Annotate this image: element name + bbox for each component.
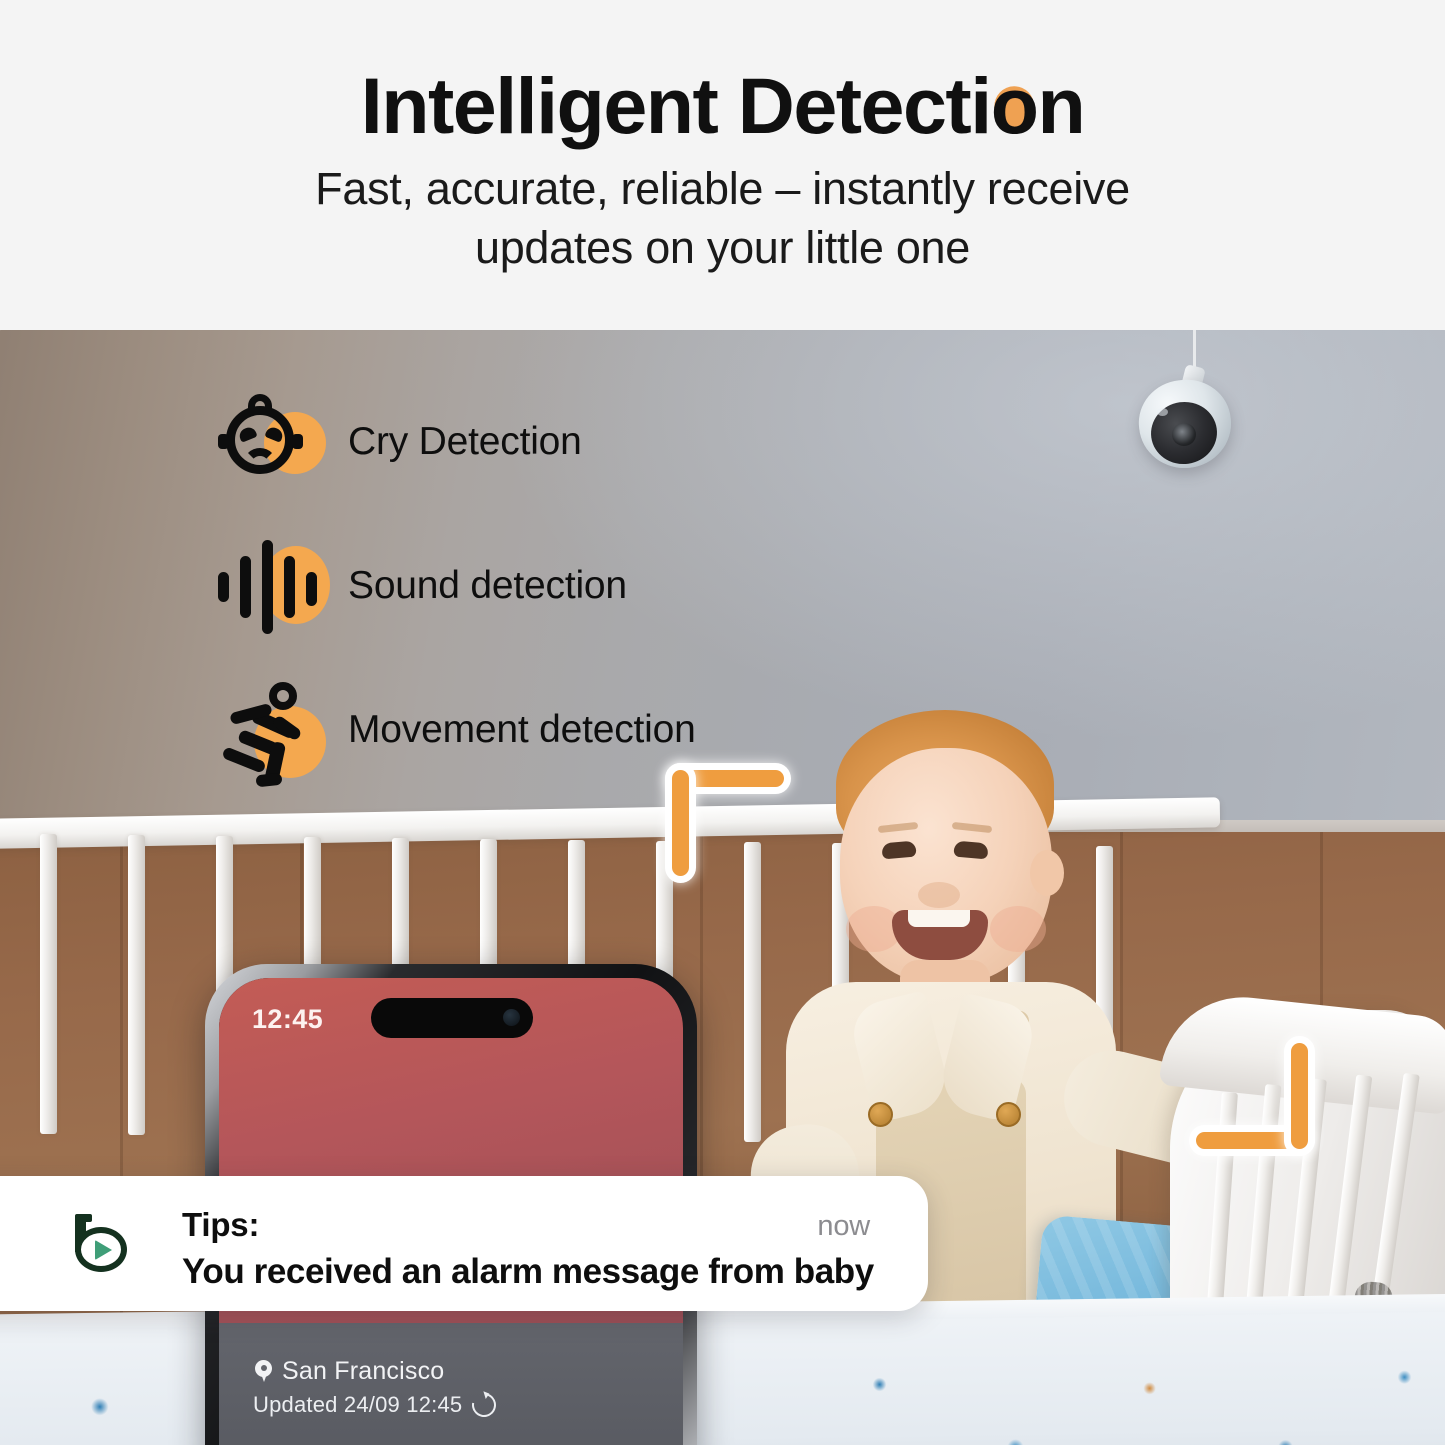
- bracket-arm-vertical: [672, 770, 689, 876]
- baby-teeth: [908, 910, 970, 927]
- last-updated-label: Updated 24/09 12:45: [253, 1392, 462, 1418]
- feature-item-movement-detection: Movement detection: [212, 672, 696, 788]
- baby-hair-curl: [248, 394, 272, 410]
- feature-label: Cry Detection: [348, 420, 582, 464]
- play-triangle-icon: [95, 1240, 112, 1260]
- waveform-bar: [306, 572, 317, 606]
- running-person-icon: [212, 674, 324, 786]
- sound-waveform-icon: [212, 530, 324, 642]
- waveform-bar: [262, 540, 273, 634]
- detection-bracket-bottom-right-icon: [1196, 1043, 1308, 1149]
- feature-label: Movement detection: [348, 708, 696, 752]
- baby-eye-right: [953, 841, 988, 860]
- baby-cheek-right: [990, 906, 1046, 952]
- device-location-label: San Francisco: [282, 1357, 444, 1386]
- page-subtitle-line-2: updates on your little one: [0, 219, 1445, 278]
- push-notification-card[interactable]: Tips: You received an alarm message from…: [0, 1176, 928, 1311]
- bracket-arm-vertical: [1291, 1043, 1308, 1149]
- feature-label: Sound detection: [348, 564, 627, 608]
- baby-nose: [918, 882, 960, 908]
- baby-overall-button-left: [868, 1102, 893, 1127]
- waveform-bar: [240, 556, 251, 618]
- baby-face-ear-left: [218, 434, 229, 449]
- page-title: Intelligent Detection: [0, 66, 1445, 145]
- baby-eye-left: [881, 841, 916, 860]
- crib-bar: [128, 835, 145, 1135]
- notification-title: Tips:: [182, 1204, 874, 1245]
- notification-timestamp: now: [817, 1210, 870, 1243]
- product-feature-banner: Intelligent Detection Fast, accurate, re…: [0, 0, 1445, 1445]
- refresh-icon[interactable]: [468, 1388, 501, 1421]
- runner-foot: [255, 773, 282, 788]
- detection-bracket-top-left-icon: [672, 770, 784, 876]
- title-accent-letter-o: o: [991, 66, 1038, 145]
- pin-hole: [261, 1365, 267, 1371]
- feature-item-cry-detection: Cry Detection: [212, 384, 696, 500]
- page-subtitle-line-1: Fast, accurate, reliable – instantly rec…: [0, 160, 1445, 219]
- page-subtitle: Fast, accurate, reliable – instantly rec…: [0, 160, 1445, 277]
- crying-baby-face-icon: [212, 386, 324, 498]
- crib-bar: [40, 834, 57, 1134]
- location-pin-icon: [255, 1360, 272, 1383]
- feature-list: Cry Detection Sound detection: [212, 384, 696, 816]
- notification-message: You received an alarm message from baby: [182, 1249, 874, 1295]
- header-section: Intelligent Detection Fast, accurate, re…: [0, 0, 1445, 330]
- waveform-bar: [218, 572, 229, 602]
- notification-text-block: Tips: You received an alarm message from…: [182, 1204, 874, 1295]
- waveform-bar: [284, 556, 295, 618]
- status-bar-time: 12:45: [252, 1004, 323, 1035]
- baby-ear: [1030, 850, 1064, 896]
- page-title-part-2: n: [1037, 61, 1084, 150]
- app-logo-icon: [72, 1214, 130, 1272]
- device-location-row: San Francisco: [255, 1357, 444, 1386]
- last-updated-row: Updated 24/09 12:45: [253, 1392, 496, 1418]
- baby-overall-button-right: [996, 1102, 1021, 1127]
- baby-face-ear-right: [292, 434, 303, 449]
- title-letter-o-glyph: o: [991, 61, 1038, 150]
- page-title-part-1: Intelligent Detecti: [361, 61, 991, 150]
- feature-item-sound-detection: Sound detection: [212, 528, 696, 644]
- front-camera-icon: [503, 1009, 520, 1026]
- runner-head: [269, 682, 297, 710]
